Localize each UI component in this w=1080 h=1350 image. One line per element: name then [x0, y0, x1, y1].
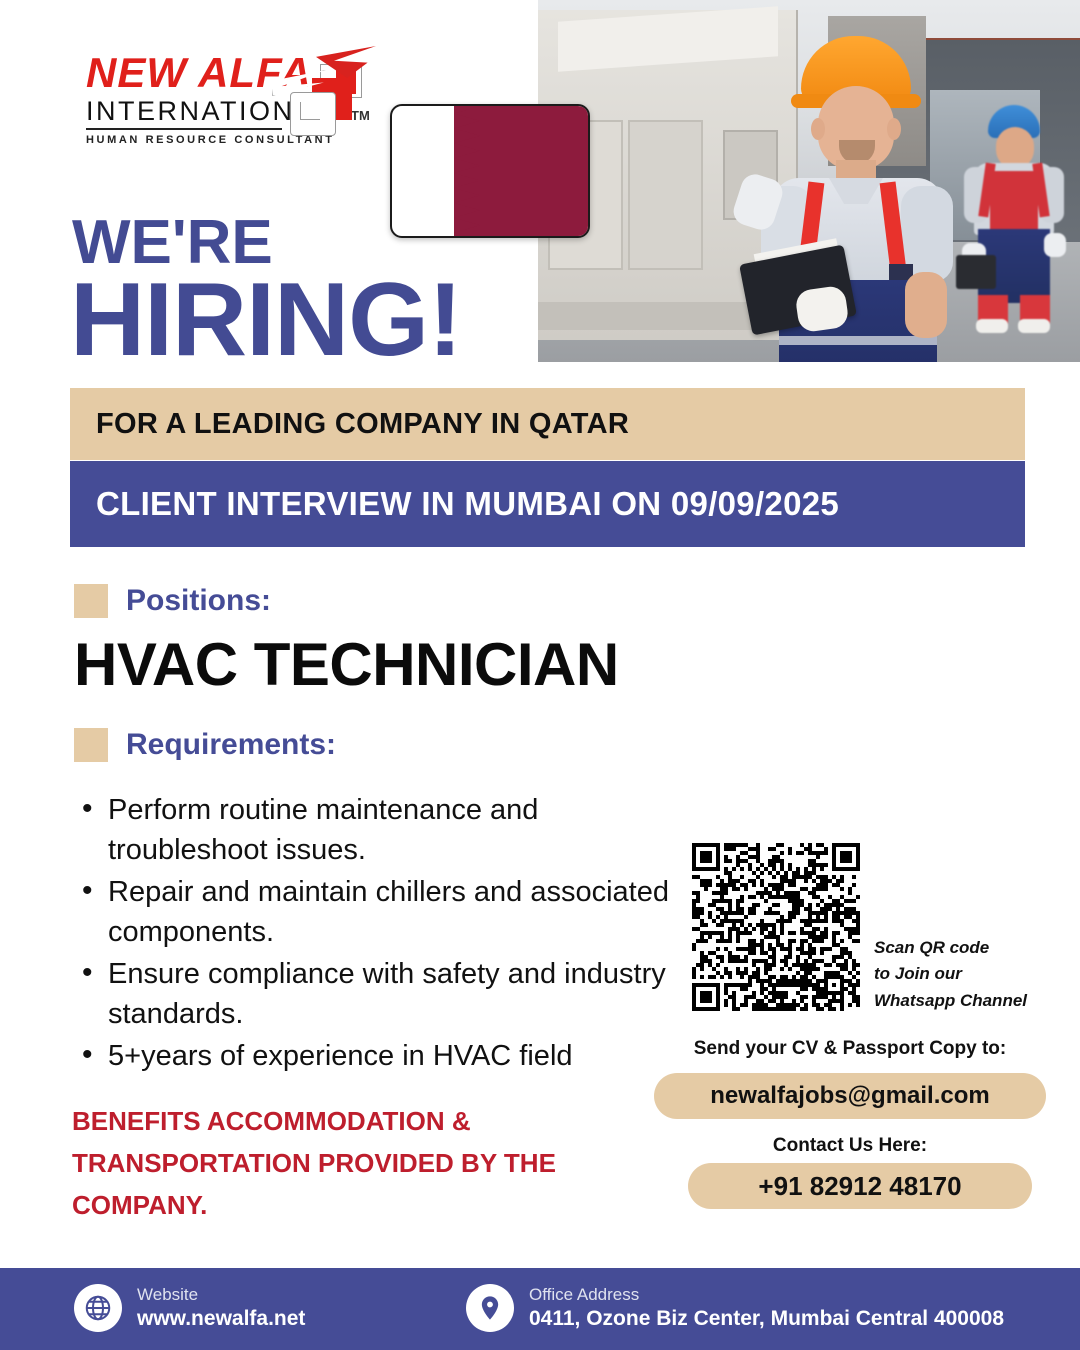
banner-client-interview: CLIENT INTERVIEW IN MUMBAI ON 09/09/2025	[70, 461, 1025, 547]
requirement-item: 5+years of experience in HVAC field	[74, 1036, 674, 1076]
globe-icon	[74, 1284, 122, 1332]
requirements-label: Requirements:	[126, 728, 336, 762]
arrow-squares-icon	[290, 52, 374, 136]
benefits-text: BENEFITS ACCOMMODATION & TRANSPORTATION …	[72, 1100, 592, 1226]
contact-label: Contact Us Here:	[654, 1135, 1046, 1157]
positions-label: Positions:	[126, 584, 271, 618]
requirement-item: Repair and maintain chillers and associa…	[74, 872, 674, 952]
photo-worker2-shoe-left	[976, 319, 1008, 333]
requirements-label-row: Requirements:	[74, 728, 336, 762]
logo-divider	[86, 128, 282, 130]
banner-company-qatar-text: FOR A LEADING COMPANY IN QATAR	[96, 408, 629, 441]
qr-code-icon[interactable]	[692, 843, 860, 1011]
qr-instruction-line2: to Join our	[874, 961, 1074, 987]
qr-code-canvas	[692, 843, 860, 1011]
qr-instruction: Scan QR code to Join our Whatsapp Channe…	[874, 935, 1074, 1014]
photo-worker-foreground	[753, 36, 973, 362]
qatar-flag-icon	[390, 104, 590, 238]
photo-worker1-ear-left	[811, 118, 825, 140]
headline-hiring: HIRING!	[70, 268, 462, 372]
requirement-item: Ensure compliance with safety and indust…	[74, 954, 674, 1034]
qr-instruction-line1: Scan QR code	[874, 935, 1074, 961]
photo-ac-panel-2	[628, 120, 703, 270]
hvac-technicians-photo	[538, 0, 1080, 362]
banner-client-interview-text: CLIENT INTERVIEW IN MUMBAI ON 09/09/2025	[96, 485, 839, 523]
email-address: newalfajobs@gmail.com	[710, 1082, 989, 1110]
logo-square-inner	[300, 102, 320, 120]
photo-worker1-pants-stripe	[779, 336, 937, 345]
banner-company-qatar: FOR A LEADING COMPANY IN QATAR	[70, 388, 1025, 460]
cv-submission-label: Send your CV & Passport Copy to:	[654, 1038, 1046, 1060]
photo-worker2-glove-right	[1044, 233, 1066, 257]
photo-worker2-bib	[990, 171, 1038, 235]
job-title: HVAC TECHNICIAN	[74, 630, 619, 699]
footer-address: Office Address 0411, Ozone Biz Center, M…	[466, 1284, 1004, 1332]
footer-website-value: www.newalfa.net	[137, 1306, 305, 1332]
photo-ac-top	[558, 6, 778, 71]
flag-serrated-edge	[454, 106, 480, 236]
square-bullet-icon	[74, 728, 108, 762]
phone-pill[interactable]: +91 82912 48170	[688, 1163, 1032, 1209]
location-pin-icon	[466, 1284, 514, 1332]
square-bullet-icon	[74, 584, 108, 618]
phone-number: +91 82912 48170	[758, 1171, 961, 1202]
email-pill[interactable]: newalfajobs@gmail.com	[654, 1073, 1046, 1119]
footer-address-label: Office Address	[529, 1284, 1004, 1305]
photo-worker2-shoe-right	[1018, 319, 1050, 333]
photo-worker1-ear-right	[887, 118, 901, 140]
footer-website-label: Website	[137, 1284, 305, 1305]
photo-worker1-arm-right	[905, 272, 947, 338]
footer: Website www.newalfa.net Office Address 0…	[0, 1268, 1080, 1350]
qr-instruction-line3: Whatsapp Channel	[874, 988, 1074, 1014]
requirements-list: Perform routine maintenance and troubles…	[74, 790, 674, 1078]
footer-address-value: 0411, Ozone Biz Center, Mumbai Central 4…	[529, 1306, 1004, 1332]
footer-website[interactable]: Website www.newalfa.net	[74, 1284, 305, 1332]
positions-label-row: Positions:	[74, 584, 271, 618]
requirement-item: Perform routine maintenance and troubles…	[74, 790, 674, 870]
